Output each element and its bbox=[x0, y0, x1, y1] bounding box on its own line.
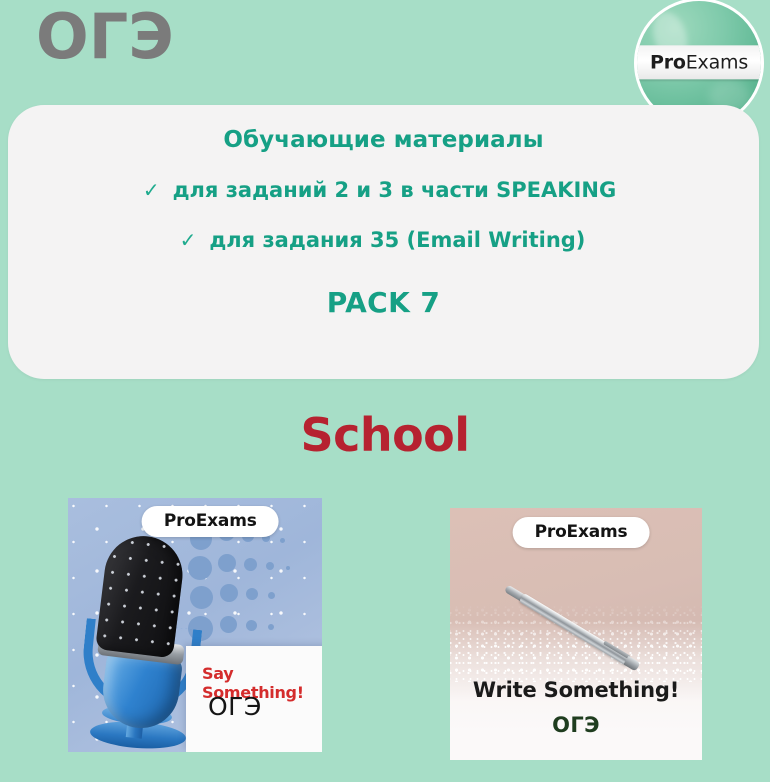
thumbnail-writing[interactable]: Write Something! ОГЭ ProExams bbox=[450, 508, 702, 760]
microphone-head bbox=[95, 532, 187, 659]
bullet-item-speaking: ✓ для заданий 2 и 3 в части SPEAKING bbox=[8, 178, 759, 202]
writing-caption: Write Something! bbox=[450, 678, 702, 702]
section-heading-school: School bbox=[0, 408, 770, 462]
logo-text-band: ProExams bbox=[634, 45, 764, 79]
info-card: Обучающие материалы ✓ для заданий 2 и 3 … bbox=[8, 105, 759, 379]
writing-exam-label: ОГЭ bbox=[450, 713, 702, 737]
oge-wordmark: ОГЭ bbox=[36, 6, 174, 68]
check-icon: ✓ bbox=[143, 180, 160, 200]
microphone-icon bbox=[76, 536, 200, 748]
bullet-label-writing: для задания 35 (Email Writing) bbox=[209, 228, 585, 252]
info-card-title: Обучающие материалы bbox=[8, 127, 759, 153]
thumbnail-speaking[interactable]: Say Something! ОГЭ ProExams bbox=[68, 498, 322, 752]
bullet-label-speaking: для заданий 2 и 3 в части SPEAKING bbox=[173, 178, 617, 202]
thumbnail-badge-proexams: ProExams bbox=[142, 506, 279, 537]
logo-wordmark-exams: Exams bbox=[686, 51, 748, 73]
bullet-item-writing: ✓ для задания 35 (Email Writing) bbox=[8, 228, 759, 252]
grain-dot-texture bbox=[450, 604, 702, 682]
speaking-caption-panel: Say Something! ОГЭ bbox=[186, 646, 322, 752]
logo-wordmark-pro: Pro bbox=[650, 51, 686, 73]
pack-label: PACK 7 bbox=[8, 286, 759, 319]
thumbnail-badge-proexams: ProExams bbox=[513, 517, 650, 548]
logo-wordmark: ProExams bbox=[650, 53, 748, 72]
check-icon: ✓ bbox=[180, 230, 197, 250]
speaking-exam-label: ОГЭ bbox=[208, 692, 262, 721]
